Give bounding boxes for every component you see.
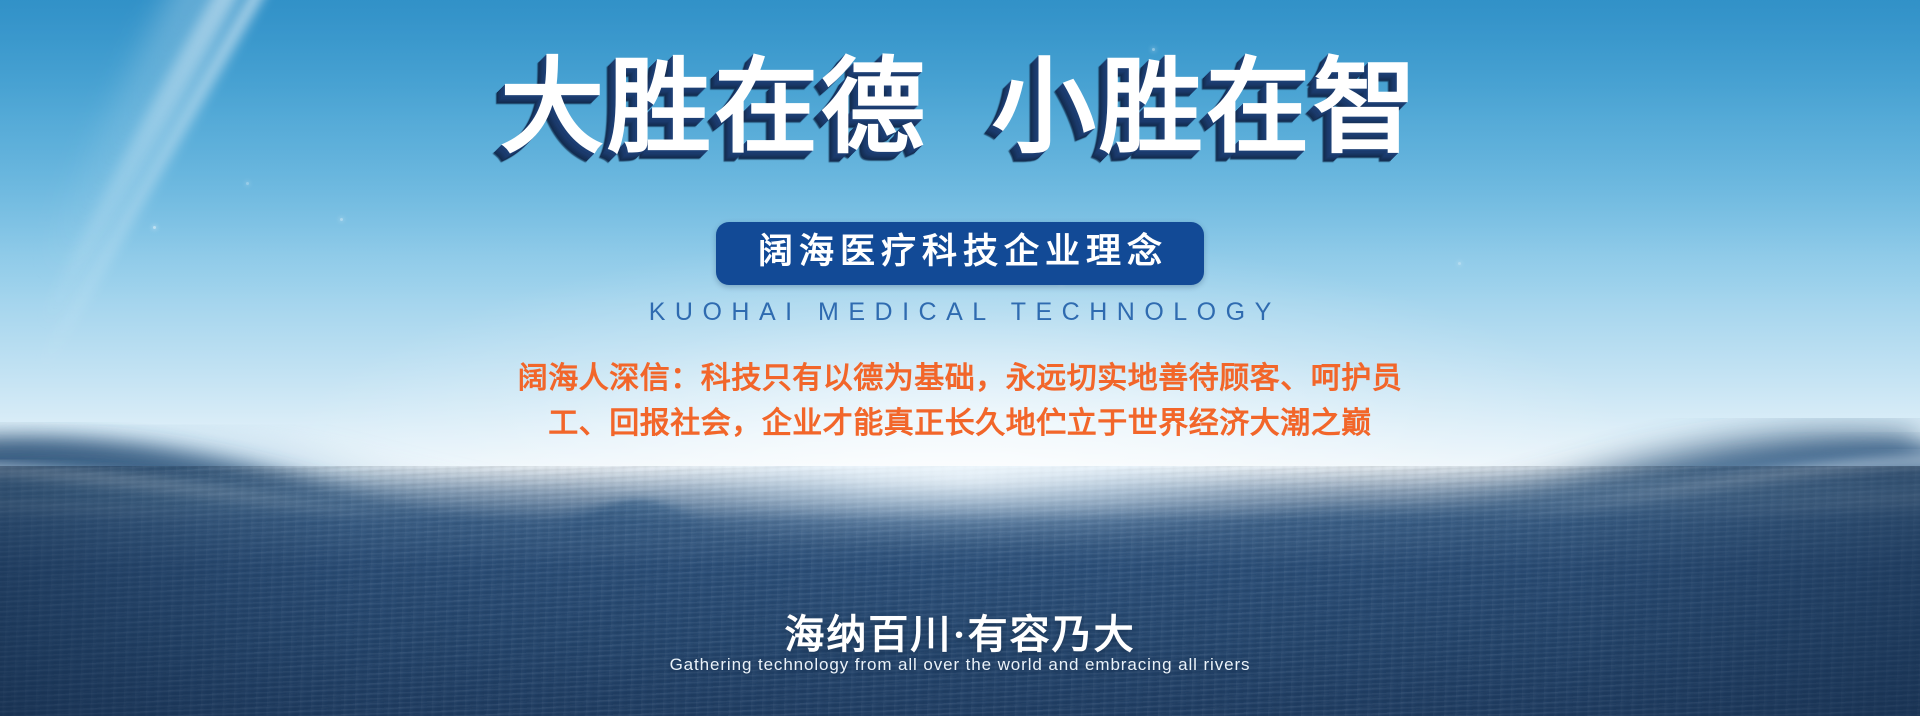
philosophy-line: 阔海人深信：科技只有以德为基础，永远切实地善待顾客、呵护员 [0,356,1920,401]
philosophy-line: 工、回报社会，企业才能真正长久地伫立于世界经济大潮之巅 [0,401,1920,446]
headline: 大胜在德 小胜在智 [0,52,1920,164]
banner: 大胜在德 小胜在智 阔海医疗科技企业理念 KUOHAI MEDICAL TECH… [0,0,1920,716]
philosophy-paragraph: 阔海人深信：科技只有以德为基础，永远切实地善待顾客、呵护员 工、回报社会，企业才… [0,356,1920,446]
motto-english: Gathering technology from all over the w… [0,655,1920,675]
motto-chinese: 海纳百川·有容乃大 [0,602,1920,660]
subtitle-english: KUOHAI MEDICAL TECHNOLOGY [0,298,1920,327]
banner-content: 大胜在德 小胜在智 阔海医疗科技企业理念 KUOHAI MEDICAL TECH… [0,0,1920,716]
company-philosophy-badge: 阔海医疗科技企业理念 [716,222,1204,285]
badge-container: 阔海医疗科技企业理念 [0,222,1920,285]
